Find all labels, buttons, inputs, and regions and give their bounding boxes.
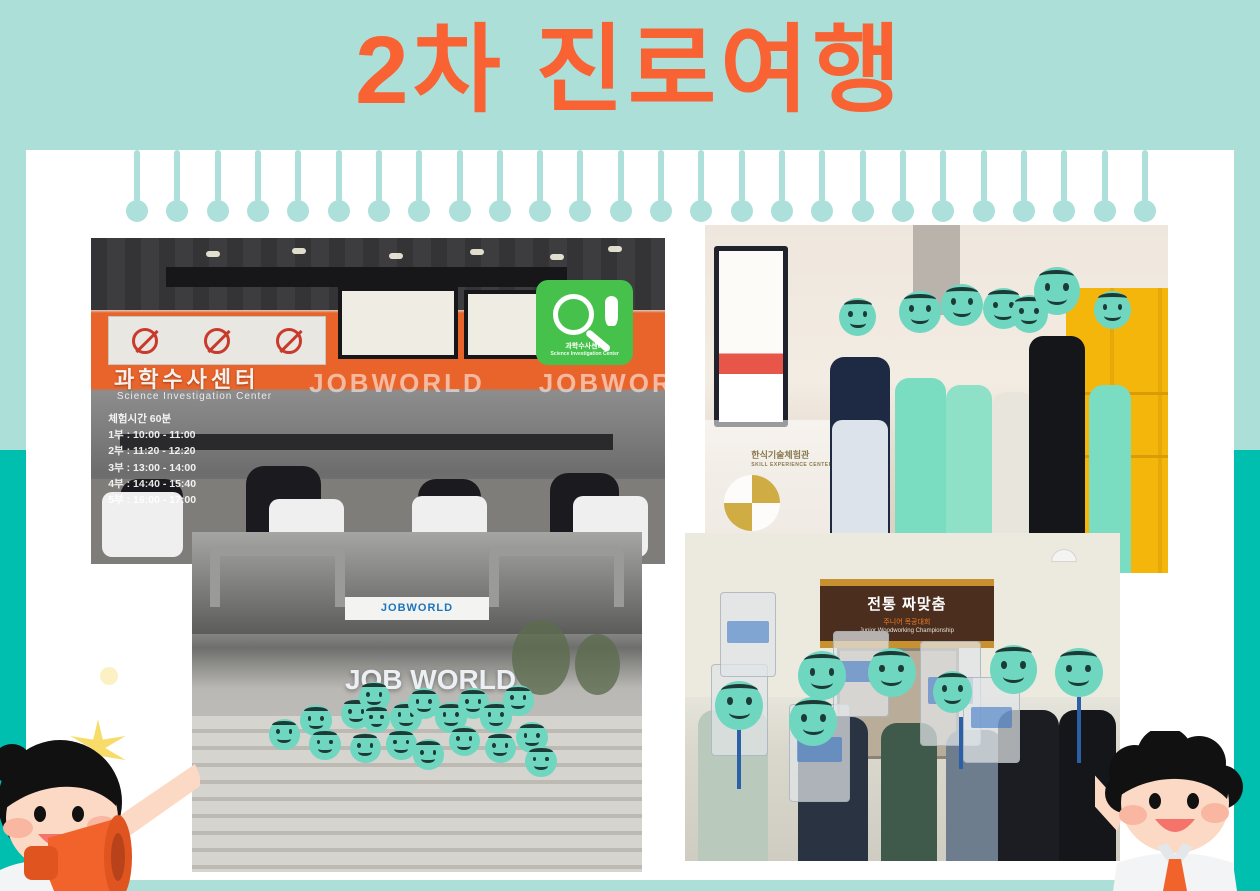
schedule-line-4: 4부 : 14:40 - 15:40	[108, 476, 326, 492]
garland-pin	[569, 150, 591, 222]
garland-pin	[973, 150, 995, 222]
title-bar: 2차 진로여행	[0, 0, 1260, 150]
security-camera	[1051, 549, 1077, 562]
garland-pin	[811, 150, 833, 222]
garland-pin	[449, 150, 471, 222]
menu-kiosk-screen	[714, 246, 788, 427]
garland-pin	[126, 150, 148, 222]
jobworld-group-photo: JOBWORLD JOB WORLD	[192, 532, 642, 872]
jobworld-watermark: JOBWORLD	[539, 368, 665, 399]
dot-decoration	[100, 667, 118, 685]
garland-pin	[529, 150, 551, 222]
garland-pin	[1013, 150, 1035, 222]
garland-pin	[731, 150, 753, 222]
prohibition-notice-board	[108, 316, 326, 365]
schedule-line-2: 2부 : 11:20 - 12:20	[108, 443, 326, 459]
garland-pin	[892, 150, 914, 222]
garland-pin	[368, 150, 390, 222]
poster-root: 2차 진로여행	[0, 0, 1260, 891]
banner-title-kr: 전통 짜맞춤	[867, 593, 946, 614]
garland-pin	[247, 150, 269, 222]
stair-letter-props: JOB WORLD	[327, 668, 534, 692]
garland-pin	[489, 150, 511, 222]
science-investigation-center-photo: 과학수사센터 Science Investigation Center 과	[91, 238, 665, 564]
garland-pin	[1094, 150, 1116, 222]
garland-pin	[287, 150, 309, 222]
traditional-joinery-photo: 전통 짜맞춤 주니어 목공대회 Junior Woodworking Champ…	[685, 533, 1120, 861]
garland-pin	[1134, 150, 1156, 222]
garland-pin	[207, 150, 229, 222]
garland-pin	[771, 150, 793, 222]
schedule-line-1: 1부 : 10:00 - 11:00	[108, 427, 326, 443]
science-center-green-sign: 과학수사센터 Science Investigation Center	[536, 280, 634, 365]
garland-pin	[932, 150, 954, 222]
garland-pin	[408, 150, 430, 222]
schedule-line-3: 3부 : 13:00 - 14:00	[108, 460, 326, 476]
garland-pin	[650, 150, 672, 222]
garland-pin	[690, 150, 712, 222]
content-card: 과학수사센터 Science Investigation Center 과	[26, 150, 1234, 880]
boy-student-illustration	[1095, 731, 1260, 891]
garland-pin	[328, 150, 350, 222]
building-logo-text: JOBWORLD	[381, 602, 453, 614]
banner-subtitle-kr: 주니어 목공대회	[883, 617, 930, 627]
garland-pin	[610, 150, 632, 222]
green-sign-label-kr: 과학수사센터	[536, 343, 634, 352]
center-logo	[724, 475, 780, 531]
green-sign-label-en: Science Investigation Center	[536, 351, 634, 357]
schedule-line-5: 5부 : 16:00 - 17:00	[108, 492, 326, 508]
garland-pin	[1053, 150, 1075, 222]
experience-duration: 체험시간 60분	[108, 411, 326, 427]
garland-pin	[852, 150, 874, 222]
jobworld-building-sign: JOBWORLD	[345, 597, 489, 621]
pin-garland	[126, 150, 1156, 230]
garland-pin	[166, 150, 188, 222]
jobworld-watermark: JOBWORLD	[309, 368, 485, 399]
girl-with-megaphone-illustration	[0, 726, 200, 891]
apron-locker-room-photo: 10 한식기술체험관 SKILL EXPERIENCE CENTER	[705, 225, 1168, 573]
page-title: 2차 진로여행	[355, 23, 905, 119]
